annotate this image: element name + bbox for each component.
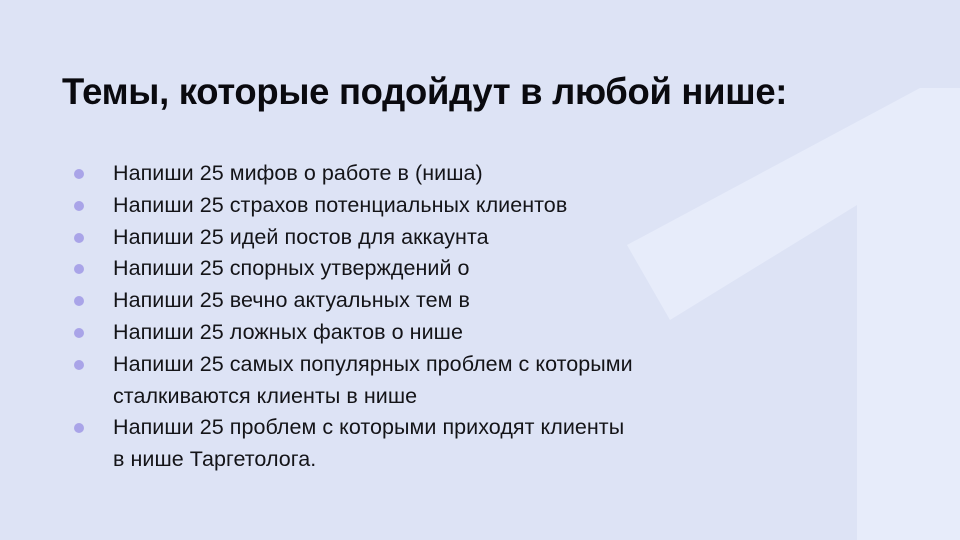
list-item: Напиши 25 самых популярных проблем с кот… (62, 349, 862, 413)
list-item: Напиши 25 вечно актуальных тем в (62, 285, 862, 317)
bullet-dot-icon (74, 169, 84, 179)
list-item-label: Напиши 25 ложных фактов о нише (113, 317, 862, 349)
list-item-label: Напиши 25 спорных утверждений о (113, 253, 862, 285)
list-item: Напиши 25 страхов потенциальных клиентов (62, 190, 862, 222)
list-item-label: Напиши 25 мифов о работе в (ниша) (113, 158, 862, 190)
bullet-dot-icon (74, 264, 84, 274)
topic-bullet-list: Напиши 25 мифов о работе в (ниша) Напиши… (62, 158, 862, 476)
list-item: Напиши 25 спорных утверждений о (62, 253, 862, 285)
slide-canvas: Темы, которые подойдут в любой нише: Нап… (0, 0, 960, 540)
list-item-label: Напиши 25 идей постов для аккаунта (113, 222, 862, 254)
bullet-dot-icon (74, 296, 84, 306)
list-item-label: Напиши 25 самых популярных проблем с кот… (113, 349, 862, 413)
list-item: Напиши 25 ложных фактов о нише (62, 317, 862, 349)
list-item: Напиши 25 мифов о работе в (ниша) (62, 158, 862, 190)
list-item-label: Напиши 25 проблем с которыми приходят кл… (113, 412, 862, 476)
list-item: Напиши 25 идей постов для аккаунта (62, 222, 862, 254)
page-title: Темы, которые подойдут в любой нише: (62, 70, 909, 114)
bullet-dot-icon (74, 423, 84, 433)
list-item-label: Напиши 25 страхов потенциальных клиентов (113, 190, 862, 222)
bullet-dot-icon (74, 233, 84, 243)
list-item-label: Напиши 25 вечно актуальных тем в (113, 285, 862, 317)
list-item: Напиши 25 проблем с которыми приходят кл… (62, 412, 862, 476)
bullet-dot-icon (74, 201, 84, 211)
bullet-dot-icon (74, 360, 84, 370)
bullet-dot-icon (74, 328, 84, 338)
